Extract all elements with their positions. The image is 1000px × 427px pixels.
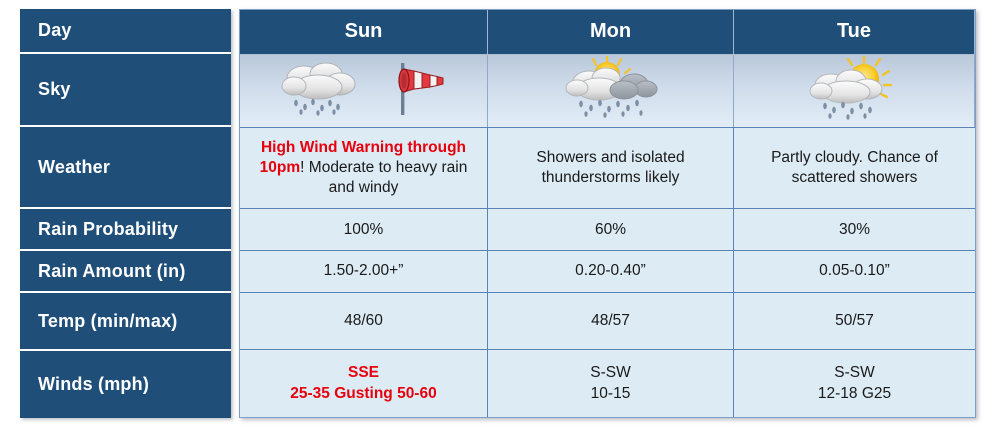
table-row-day: Sun Mon Tue (240, 10, 975, 55)
day-header-sun: Sun (240, 10, 488, 54)
rain-probability-cell-mon: 60% (488, 209, 734, 250)
winds-cell-sun: SSE 25-35 Gusting 50-60 (240, 350, 488, 417)
winds-cell-mon: S-SW 10-15 (488, 350, 734, 417)
rain-amount-cell-tue: 0.05-0.10” (734, 251, 975, 292)
rain-amount-cell-mon: 0.20-0.40” (488, 251, 734, 292)
weather-cell-tue: Partly cloudy. Chance of scattered showe… (734, 128, 975, 209)
weather-forecast-table: Day Sky Weather Rain Probability Rain Am… (0, 0, 1000, 427)
temp-cell-mon: 48/57 (488, 293, 734, 350)
weather-cell-mon: Showers and isolated thunderstorms likel… (488, 128, 734, 209)
sun-behind-clouds-rain-icon (551, 56, 671, 125)
day-header-tue: Tue (734, 10, 975, 54)
winds-speed-mon: 10-15 (590, 384, 630, 405)
sky-cell-mon (488, 55, 734, 127)
sun-behind-cloud-rain-icon (801, 56, 907, 125)
row-label-winds: Winds (mph) (20, 351, 231, 418)
forecast-data-table: Sun Mon Tue (239, 9, 976, 418)
sky-cell-sun (240, 55, 488, 127)
row-label-weather: Weather (20, 127, 231, 209)
row-label-temp: Temp (min/max) (20, 293, 231, 351)
row-label-column: Day Sky Weather Rain Probability Rain Am… (20, 9, 231, 418)
winds-direction-tue: S-SW (818, 363, 891, 384)
table-row-rain-probability: 100% 60% 30% (240, 209, 975, 251)
winds-direction-sun: SSE (290, 363, 436, 384)
winds-cell-tue: S-SW 12-18 G25 (734, 350, 975, 417)
day-header-mon: Mon (488, 10, 734, 54)
weather-text-mon: Showers and isolated thunderstorms likel… (496, 148, 725, 188)
winds-speed-sun: 25-35 Gusting 50-60 (290, 384, 436, 405)
table-row-weather: High Wind Warning through 10pm! Moderate… (240, 128, 975, 210)
row-label-rain-probability: Rain Probability (20, 209, 231, 251)
row-label-sky: Sky (20, 54, 231, 127)
rain-amount-cell-sun: 1.50-2.00+” (240, 251, 488, 292)
windsock-icon (390, 59, 450, 122)
sky-cell-tue (734, 55, 975, 127)
weather-cell-sun: High Wind Warning through 10pm! Moderate… (240, 128, 488, 209)
row-label-rain-amount: Rain Amount (in) (20, 251, 231, 293)
table-row-winds: SSE 25-35 Gusting 50-60 S-SW 10-15 S-SW … (240, 350, 975, 417)
winds-speed-tue: 12-18 G25 (818, 384, 891, 405)
rain-cloud-icon (278, 60, 364, 121)
rain-probability-cell-tue: 30% (734, 209, 975, 250)
rain-probability-cell-sun: 100% (240, 209, 488, 250)
table-row-sky (240, 55, 975, 128)
row-label-day: Day (20, 9, 231, 54)
weather-text-sun-rest: ! Moderate to heavy rain and windy (300, 159, 467, 196)
temp-cell-tue: 50/57 (734, 293, 975, 350)
weather-text-tue: Partly cloudy. Chance of scattered showe… (742, 148, 967, 188)
table-row-temp: 48/60 48/57 50/57 (240, 293, 975, 351)
temp-cell-sun: 48/60 (240, 293, 488, 350)
table-row-rain-amount: 1.50-2.00+” 0.20-0.40” 0.05-0.10” (240, 251, 975, 293)
winds-direction-mon: S-SW (590, 363, 630, 384)
